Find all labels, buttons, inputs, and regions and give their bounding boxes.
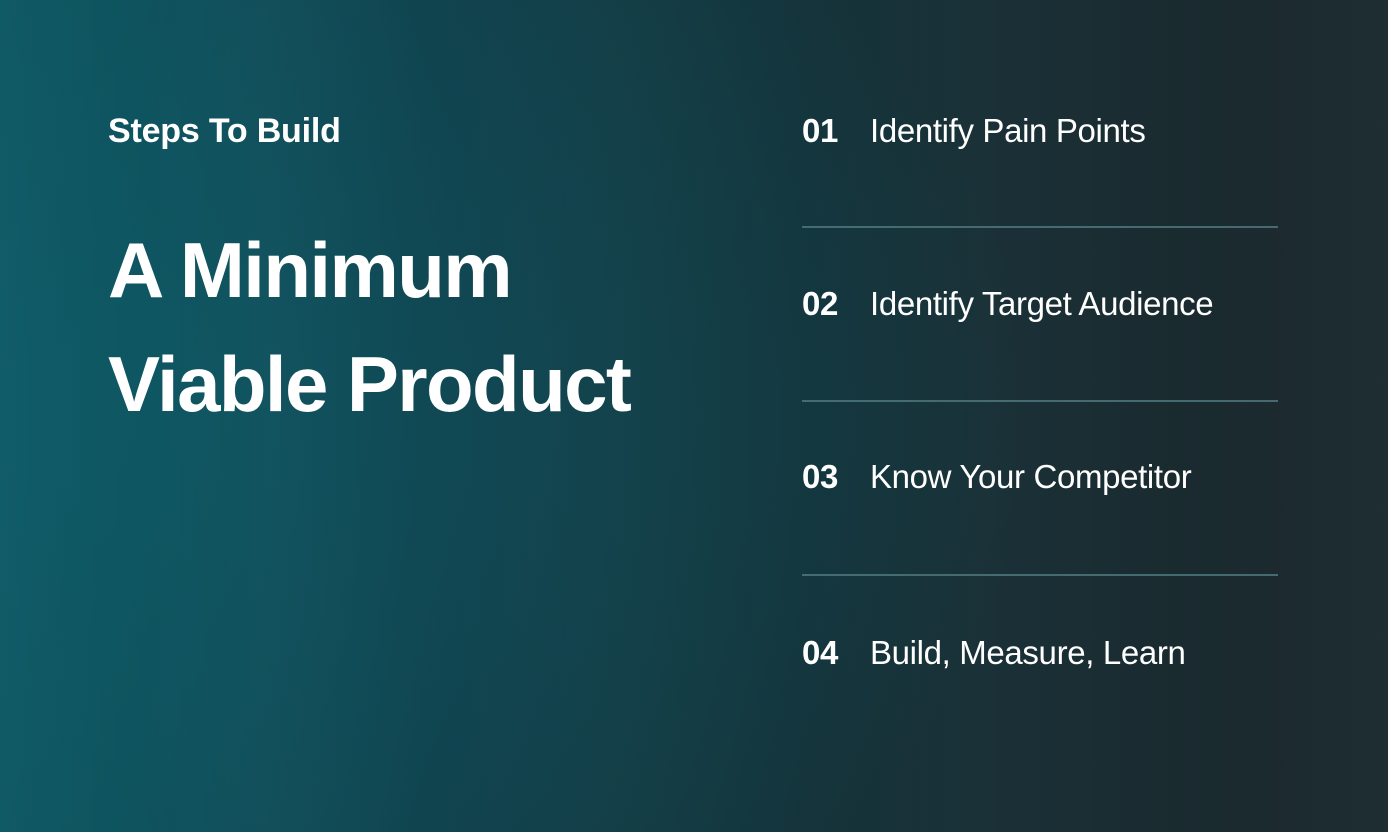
step-label-01: Identify Pain Points bbox=[870, 112, 1146, 150]
spacer bbox=[802, 228, 1278, 285]
left-column: Steps To Build A Minimum Viable Product bbox=[108, 112, 728, 441]
spacer bbox=[802, 509, 1278, 574]
slide-canvas: Steps To Build A Minimum Viable Product … bbox=[0, 0, 1388, 832]
spacer bbox=[802, 402, 1278, 458]
step-label-02: Identify Target Audience bbox=[870, 285, 1213, 323]
headline-line-2: Viable Product bbox=[108, 327, 728, 441]
steps-list: 01 Identify Pain Points 02 Identify Targ… bbox=[802, 112, 1278, 685]
step-number-03: 03 bbox=[802, 458, 870, 496]
headline-line-1: A Minimum bbox=[108, 213, 728, 327]
step-number-02: 02 bbox=[802, 285, 870, 323]
step-label-04: Build, Measure, Learn bbox=[870, 634, 1186, 672]
step-label-03: Know Your Competitor bbox=[870, 458, 1191, 496]
spacer bbox=[802, 576, 1278, 634]
spacer bbox=[802, 163, 1278, 226]
step-divider-3 bbox=[802, 574, 1278, 576]
list-item: 04 Build, Measure, Learn bbox=[802, 634, 1278, 685]
spacer bbox=[802, 336, 1278, 400]
list-item: 03 Know Your Competitor bbox=[802, 458, 1278, 509]
step-divider-2 bbox=[802, 400, 1278, 402]
eyebrow-label: Steps To Build bbox=[108, 112, 728, 151]
list-item: 02 Identify Target Audience bbox=[802, 285, 1278, 336]
step-number-01: 01 bbox=[802, 112, 870, 150]
list-item: 01 Identify Pain Points bbox=[802, 112, 1278, 163]
step-number-04: 04 bbox=[802, 634, 870, 672]
step-divider-1 bbox=[802, 226, 1278, 228]
page-title: A Minimum Viable Product bbox=[108, 151, 728, 441]
